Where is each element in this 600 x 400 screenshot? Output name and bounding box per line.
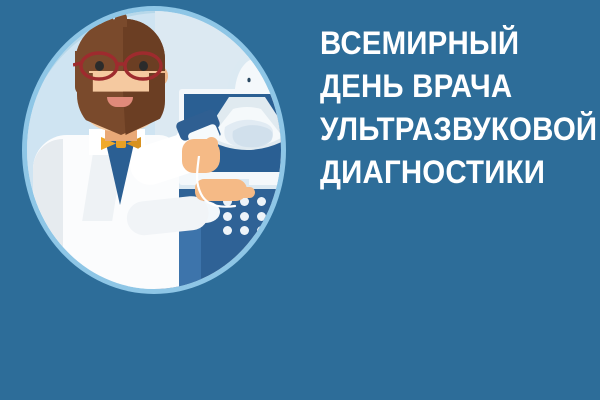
doctor-eye-right: [139, 61, 148, 71]
doctor-finger: [227, 187, 255, 198]
title-line-3: УЛЬТРАЗВУКОВОЙ: [320, 108, 568, 151]
poster-title: ВСЕМИРНЫЙ ДЕНЬ ВРАЧА УЛЬТРАЗВУКОВОЙ ДИАГ…: [320, 22, 590, 194]
doctor-character: [27, 11, 281, 289]
hair-tuft-3: [115, 12, 127, 27]
hair-tuft-1: [86, 12, 101, 28]
doctor-coat-shadow: [33, 139, 63, 289]
glasses-icon: [73, 49, 171, 83]
ultrasound-doctor-illustration: [22, 6, 286, 294]
hair-tuft-2: [100, 11, 114, 28]
poster-root: ВСЕМИРНЫЙ ДЕНЬ ВРАЧА УЛЬТРАЗВУКОВОЙ ДИАГ…: [0, 0, 600, 400]
doctor-eye-left: [95, 61, 104, 71]
doctor-thumb: [205, 137, 218, 155]
circle-inner: [27, 11, 281, 289]
title-line-1: ВСЕМИРНЫЙ: [320, 22, 568, 65]
title-line-2: ДЕНЬ ВРАЧА: [320, 65, 568, 108]
title-line-4: ДИАГНОСТИКИ: [320, 151, 568, 194]
